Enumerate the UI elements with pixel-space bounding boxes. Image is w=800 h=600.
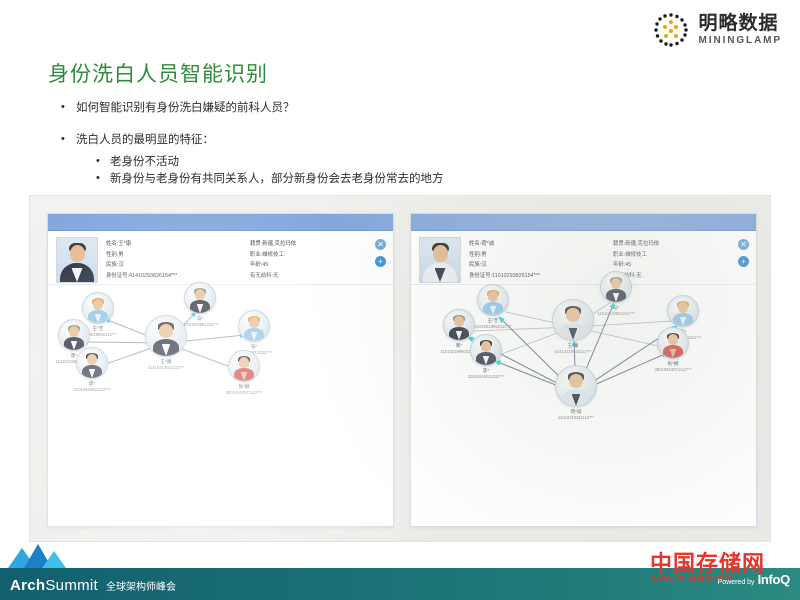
- person-avatar-icon: [657, 327, 689, 359]
- relationship-graph-right[interactable]: 王*艺41010519950112***周*11010219960312***李…: [411, 285, 756, 527]
- person-avatar-icon: [184, 282, 216, 314]
- field-gender: 性别:男: [469, 250, 609, 261]
- person-avatar-icon: [238, 310, 270, 342]
- brand-name-cn: 明略数据: [699, 14, 782, 33]
- field-age: 年龄:45: [250, 260, 370, 271]
- field-ethnic: 民族:汉: [106, 260, 246, 271]
- graph-panel-right: 姓名:荷*诚 性别:男 民族:汉 身份证号:11010293826154*** …: [410, 213, 757, 527]
- add-icon[interactable]: +: [375, 256, 386, 267]
- person-avatar-icon: [76, 347, 108, 379]
- page-title: 身份洗白人员智能识别: [48, 58, 268, 88]
- powered-by-label: Powered by: [718, 579, 755, 586]
- person-avatar-icon: [470, 334, 502, 366]
- graph-node[interactable]: 王*康41410219631112***: [538, 299, 608, 355]
- close-icon[interactable]: ✕: [375, 239, 386, 250]
- person-info-card: 姓名:王*康 性别:男 民族:汉 身份证号:41410293826154*** …: [48, 231, 393, 285]
- arch-subtitle: 全球架构师峰会: [106, 578, 176, 593]
- graph-node[interactable]: 张*娜38010519871112***: [209, 350, 279, 396]
- field-id-number: 身份证号:41410293826154***: [106, 271, 246, 282]
- node-id: 31010519631112***: [57, 387, 127, 393]
- close-icon[interactable]: ✕: [738, 239, 749, 250]
- archsummit-logo: ArchSummit 全球架构师峰会: [10, 577, 176, 594]
- node-id: 41410219631112***: [131, 365, 201, 371]
- relationship-graph-left[interactable]: 王*艺41010519950112***周*11010219960312***李…: [48, 285, 393, 527]
- person-photo-icon: [419, 237, 461, 283]
- brand-logo: 明略数据 MININGLAMP: [651, 10, 782, 50]
- arch-bold: Arch: [10, 577, 45, 594]
- person-photo-icon: [56, 237, 98, 283]
- person-avatar-icon: [667, 295, 699, 327]
- person-avatar-icon: [145, 315, 187, 357]
- brand-name-en: MININGLAMP: [699, 36, 782, 46]
- person-avatar-icon: [555, 365, 597, 407]
- field-gender: 性别:男: [106, 250, 246, 261]
- app-screenshot: 姓名:王*康 性别:男 民族:汉 身份证号:41410293826154*** …: [30, 196, 770, 541]
- card-actions: ✕ +: [375, 239, 386, 267]
- arch-light: Summit: [45, 577, 98, 594]
- field-record: 有无前科:无: [250, 271, 370, 282]
- graph-node[interactable]: 王*康41410219631112***: [131, 315, 201, 371]
- node-id: 31010519631112***: [451, 374, 521, 380]
- sub-bullet-item: 新身份与老身份有共同关系人，部分新身份会去老身份常去的地方: [58, 171, 698, 189]
- person-avatar-icon: [228, 350, 260, 382]
- card-actions: ✕ +: [738, 239, 749, 267]
- graph-node[interactable]: 李*31010519631112***: [451, 334, 521, 380]
- infoq-credit: Powered by InfoQ: [718, 572, 790, 587]
- graph-panel-left: 姓名:王*康 性别:男 民族:汉 身份证号:41410293826154*** …: [47, 213, 394, 527]
- bullet-item: 洗白人员的最明显的特征：: [58, 132, 698, 149]
- field-name: 姓名:王*康: [106, 239, 246, 250]
- field-occupation: 职业:维修技工: [613, 250, 733, 261]
- add-icon[interactable]: +: [738, 256, 749, 267]
- sub-bullet-item: 老身份不活动: [58, 154, 698, 172]
- bullet-list: 如何智能识别有身份洗白嫌疑的前科人员？ 洗白人员的最明显的特征： 老身份不活动 …: [58, 100, 698, 189]
- node-id: 41410219631112***: [538, 349, 608, 355]
- node-id: 38010519871112***: [209, 390, 279, 396]
- infoq-logo: InfoQ: [758, 572, 790, 587]
- graph-node[interactable]: 李*31010519631112***: [57, 347, 127, 393]
- node-id: 11010219611112***: [541, 415, 611, 421]
- panel-title-bar: [411, 214, 756, 231]
- field-ethnic: 民族:汉: [469, 260, 609, 271]
- node-id: 38010519871112***: [638, 367, 708, 373]
- field-age: 年龄:45: [613, 260, 733, 271]
- dots-logo-icon: [651, 10, 691, 50]
- graph-node[interactable]: 张*娜38010519871112***: [638, 327, 708, 373]
- bullet-item: 如何智能识别有身份洗白嫌疑的前科人员？: [58, 100, 698, 117]
- person-avatar-icon: [552, 299, 594, 341]
- field-hometown: 籍贯:新疆,克拉玛依: [250, 239, 370, 250]
- field-hometown: 籍贯:新疆,克拉玛依: [613, 239, 733, 250]
- field-name: 姓名:荷*诚: [469, 239, 609, 250]
- panel-title-bar: [48, 214, 393, 231]
- graph-node[interactable]: 荷*诚11010219611112***: [541, 365, 611, 421]
- mountain-logo-icon: [8, 542, 70, 568]
- field-occupation: 职业:维修技工: [250, 250, 370, 261]
- watermark: 中国存储网 www.chinastor.com Powered by InfoQ: [650, 546, 792, 596]
